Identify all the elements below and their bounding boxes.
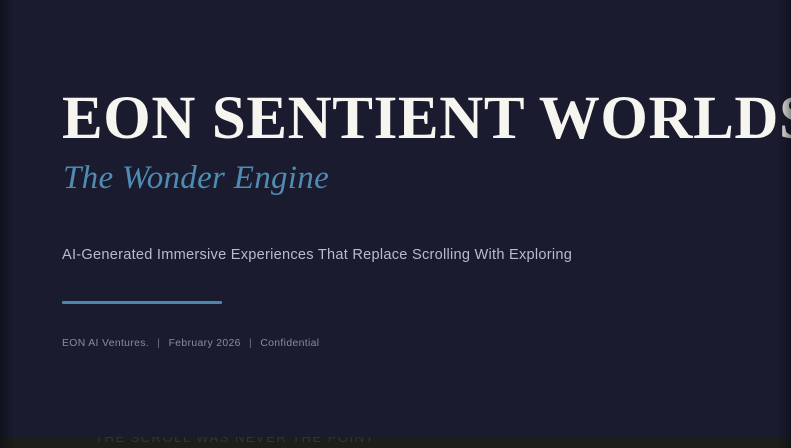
- slide-content: EON SENTIENT WORLDS The Wonder Engine AI…: [62, 0, 762, 448]
- accent-divider: [62, 301, 222, 304]
- title-slide: EON SENTIENT WORLDS The Wonder Engine AI…: [0, 0, 791, 448]
- footer-separator-2: |: [244, 338, 257, 349]
- slide-subtitle: The Wonder Engine: [63, 162, 329, 195]
- footer-date: February 2026: [169, 338, 241, 349]
- footer-separator-1: |: [152, 338, 165, 349]
- footer-organization: EON AI Ventures.: [62, 338, 149, 349]
- slide-tagline: AI-Generated Immersive Experiences That …: [62, 247, 572, 263]
- next-slide-peek: THE SCROLL WAS NEVER THE POINT: [0, 437, 791, 448]
- slide-footer: EON AI Ventures. | February 2026 | Confi…: [62, 338, 319, 349]
- page-title: EON SENTIENT WORLDS: [62, 88, 791, 149]
- next-slide-ghost-text: THE SCROLL WAS NEVER THE POINT: [95, 437, 375, 445]
- footer-classification: Confidential: [260, 338, 319, 349]
